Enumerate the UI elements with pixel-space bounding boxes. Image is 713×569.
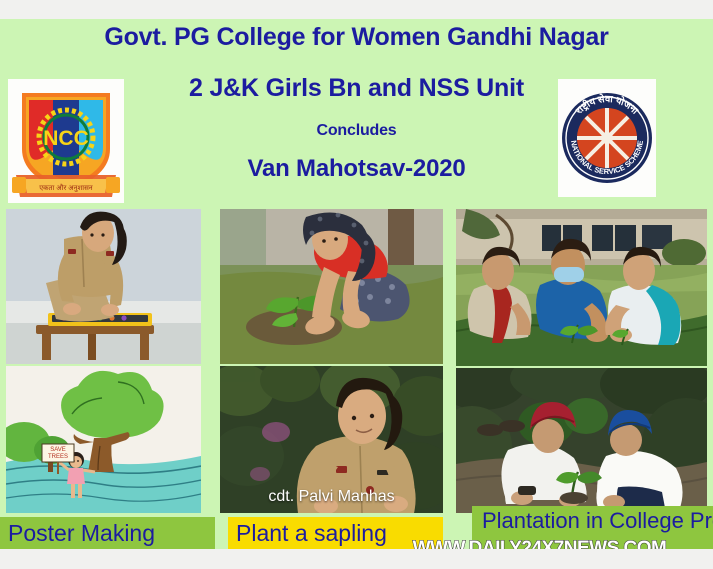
- photo-cadet-palvi: cdt. Palvi Manhas: [220, 366, 443, 513]
- top-margin-strip: [0, 0, 713, 19]
- photo-poster-drawing: SAVE TREES: [6, 366, 201, 513]
- poster-header: Govt. PG College for Women Gandhi Nagar …: [0, 19, 713, 186]
- photo-officers-planting: [456, 368, 707, 513]
- poster-image: Govt. PG College for Women Gandhi Nagar …: [0, 19, 713, 549]
- svg-text:TREES: TREES: [48, 454, 68, 460]
- site-watermark: WWW.DAILY24X7NEWS.COM: [372, 536, 707, 549]
- ncc-logo-icon: NCC एकता और अनुशासन: [8, 79, 124, 203]
- poster-making-image: [6, 209, 201, 364]
- group-planting-image: [456, 209, 707, 366]
- photo-poster-making: [6, 209, 201, 364]
- poster-drawing-image: SAVE TREES: [6, 366, 201, 513]
- cadet-palvi-image: [220, 366, 443, 513]
- sapling-girl-image: [220, 209, 443, 364]
- nss-logo-icon: राष्ट्रीय सेवा योजना NATIONAL SERVICE SC…: [558, 79, 656, 197]
- bottom-margin-strip: [0, 549, 713, 569]
- ncc-logo: NCC एकता और अनुशासन: [8, 79, 124, 203]
- college-name: Govt. PG College for Women Gandhi Nagar: [0, 23, 713, 52]
- svg-text:NCC: NCC: [43, 127, 89, 150]
- svg-text:SAVE: SAVE: [50, 447, 66, 453]
- photo-sapling-girl: [220, 209, 443, 364]
- officers-planting-image: [456, 368, 707, 513]
- nss-logo: राष्ट्रीय सेवा योजना NATIONAL SERVICE SC…: [558, 79, 656, 197]
- photo-group-planting: [456, 209, 707, 366]
- svg-text:एकता और अनुशासन: एकता और अनुशासन: [39, 183, 93, 192]
- band-poster-making: Poster Making: [0, 517, 215, 549]
